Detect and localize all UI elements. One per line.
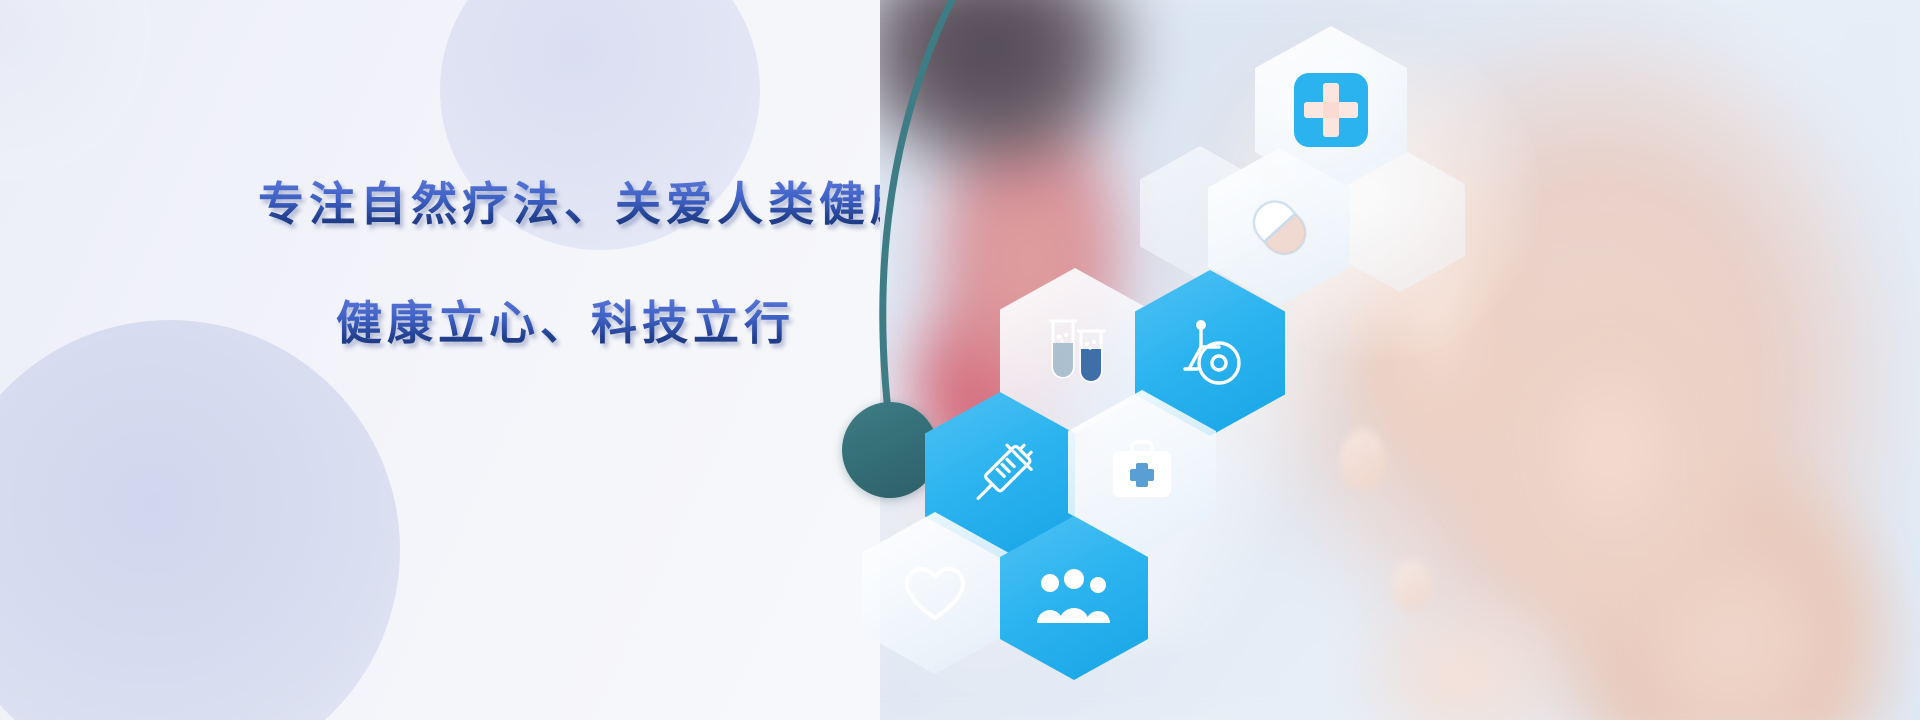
syringe-icon bbox=[960, 435, 1040, 515]
decorative-circle-bottom bbox=[0, 320, 400, 720]
wheelchair-icon bbox=[1171, 317, 1249, 389]
decorative-circle-left bbox=[0, 0, 150, 180]
teal-arc-endpoint-dot bbox=[842, 402, 938, 498]
pill-capsule-icon bbox=[1242, 190, 1316, 264]
heart-icon bbox=[899, 560, 971, 626]
medical-cross-icon bbox=[1292, 71, 1370, 149]
headline-block: 专注自然疗法、关爱人类健康 健康立心、科技立行 bbox=[0, 178, 880, 350]
health-banner: 专注自然疗法、关爱人类健康 健康立心、科技立行 bbox=[0, 0, 1920, 720]
test-tubes-icon bbox=[1037, 311, 1113, 391]
headline-line-2: 健康立心、科技立行 bbox=[0, 297, 880, 350]
medical-bag-icon bbox=[1105, 437, 1179, 507]
headline-line-1: 专注自然疗法、关爱人类健康 bbox=[0, 178, 880, 231]
family-people-icon bbox=[1034, 567, 1114, 629]
